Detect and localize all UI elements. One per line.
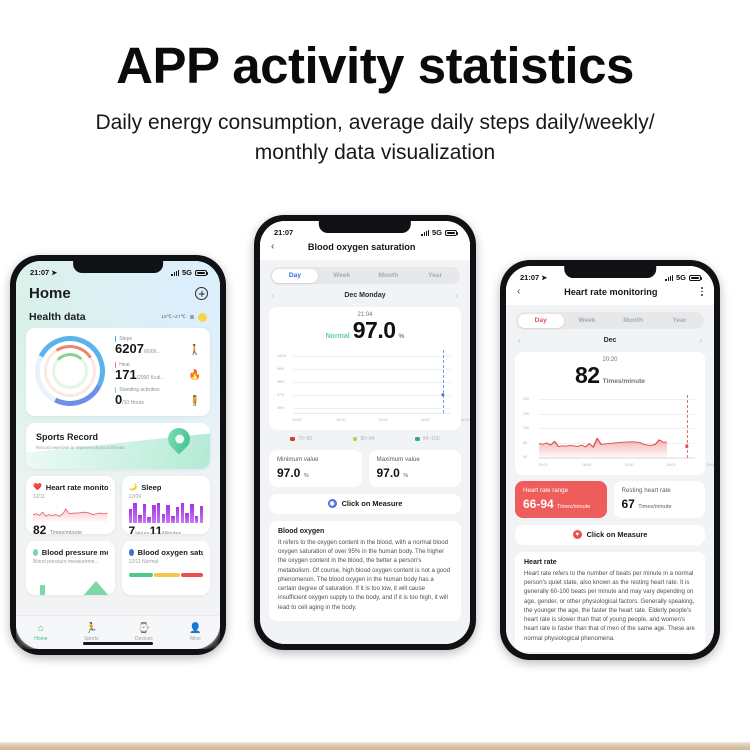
sleep-card-date: 12/09 — [129, 494, 204, 500]
oxygen-measure-icon: ◉ — [328, 499, 337, 508]
bp-icon — [33, 549, 38, 556]
phone-left-screen: 21:07 ➤ 5G Home Health data 18℃~27 — [16, 261, 220, 649]
phone-right-screen: 21:07 ➤ 5G ‹ Heart rate monitoring — [506, 266, 714, 654]
bp-card-subtitle: Blood pressure measureme... — [33, 559, 108, 565]
signal-bars-icon — [171, 270, 179, 276]
heart-rate-card-head: ❤️ Heart rate monitoring — [33, 483, 108, 492]
period-tabs-right: Day Week Month Year — [516, 312, 704, 329]
sleep-card-title: Sleep — [141, 483, 161, 492]
x-tick-4: 24:00 — [461, 418, 470, 422]
tab-year[interactable]: Year — [412, 269, 459, 283]
status-time: 21:07 — [30, 268, 49, 277]
flame-icon: 🔥 — [189, 371, 201, 381]
health-summary-card[interactable]: Steps 6207/6000... 🚶 — [26, 328, 210, 416]
bottom-cards-row: Blood pressure monitoring Blood pressure… — [26, 541, 210, 595]
resting-heart-rate-value: 67 Times/minute — [622, 497, 698, 511]
sun-icon — [198, 313, 207, 322]
heart-rate-card[interactable]: ❤️ Heart rate monitoring 12/11 — [26, 476, 115, 534]
bp-card-title: Blood pressure monitoring — [42, 548, 108, 557]
location-arrow-icon: ➤ — [541, 274, 547, 282]
x-tick-4: 24:00 — [707, 463, 715, 467]
location-arrow-icon: ➤ — [51, 269, 57, 277]
weather-widget: 18℃~27℃ — [161, 313, 207, 322]
page-subtitle: Daily energy consumption, average daily … — [0, 108, 750, 168]
nav-title: Blood oxygen saturation — [308, 242, 416, 252]
battery-icon — [195, 270, 207, 276]
phone-notch — [319, 221, 411, 233]
legend-item-90-94: 90~94 — [353, 436, 375, 442]
network-label: 5G — [676, 273, 686, 282]
standing-icon: 🧍 — [189, 397, 201, 407]
phone-blood-oxygen-screen: 21:07 5G ‹ Blood oxygen saturation — [254, 215, 476, 650]
oxygen-icon — [129, 549, 134, 556]
activity-rings — [35, 336, 105, 406]
home-header: Home — [26, 279, 210, 302]
resting-heart-rate-label: Resting heart rate — [622, 487, 698, 495]
tab-day[interactable]: Day — [518, 314, 564, 328]
period-tabs-center: Day Week Month Year — [270, 267, 460, 284]
x-tick-1: 06:00 — [337, 418, 346, 422]
heart-icon: ❤️ — [33, 483, 42, 491]
info-title: Blood oxygen — [278, 528, 452, 535]
add-device-button[interactable] — [195, 287, 208, 300]
back-button[interactable]: ‹ — [517, 286, 520, 297]
reading-status-badge: Normal — [326, 333, 350, 340]
chart-data-point — [441, 393, 444, 396]
tab-week[interactable]: Week — [564, 314, 610, 328]
tab-mine[interactable]: 👤 Mine — [189, 624, 201, 642]
heart-rate-chart: 200 160 120 80 40 — [523, 395, 697, 467]
x-tick-2: 12:00 — [379, 418, 388, 422]
reading-value: 97.0 — [353, 317, 396, 344]
heart-rate-card-date: 12/11 — [33, 494, 108, 500]
heart-rate-range-value: 66-94 Times/minute — [523, 497, 599, 511]
y-tick-100: 100% — [277, 354, 286, 358]
battery-icon — [445, 230, 457, 236]
measure-button-right[interactable]: ♥ Click on Measure — [515, 525, 705, 545]
back-button[interactable]: ‹ — [271, 241, 274, 252]
sleep-card-head: 🌙 Sleep — [129, 483, 204, 492]
status-time: 21:07 — [520, 273, 539, 282]
x-tick-1: 06:00 — [583, 463, 592, 467]
date-navigator-center: ‹ Dec Monday › — [260, 284, 470, 302]
metric-steps-value: 6207/6000... — [115, 342, 161, 356]
tab-home-label: Home — [34, 636, 47, 642]
phone-notch — [73, 261, 163, 273]
oxygen-card-subtitle: 12/11 Normal — [129, 559, 204, 565]
oxygen-chart: 100% 99% 98% 97% 96% 00:00 06:00 12:00 1… — [277, 350, 453, 422]
tab-devices-label: Devices — [135, 636, 153, 642]
heart-rate-card-title: Heart rate monitoring — [46, 483, 108, 492]
tab-sports-label: Sports — [84, 636, 98, 642]
oxygen-stats-row: Minimum value 97.0 % Maximum value 97.0 … — [269, 450, 461, 487]
tab-devices[interactable]: ⌚ Devices — [135, 624, 153, 642]
info-body: Heart rate refers to the number of beats… — [524, 569, 696, 643]
status-time: 21:07 — [274, 228, 293, 237]
tab-year[interactable]: Year — [656, 314, 702, 328]
measure-button-label: Click on Measure — [587, 530, 648, 539]
oxygen-card-title: Blood oxygen saturation — [138, 548, 203, 557]
tab-home[interactable]: ⌂ Home — [34, 624, 47, 642]
x-tick-3: 18:00 — [667, 463, 676, 467]
reading-value: 82 — [575, 362, 600, 389]
blood-oxygen-card[interactable]: Blood oxygen saturation 12/11 Normal — [122, 541, 211, 595]
profile-icon: 👤 — [189, 624, 201, 634]
y-tick-40: 40 — [523, 455, 527, 459]
metric-steps: Steps 6207/6000... 🚶 — [115, 336, 201, 356]
moon-icon: 🌙 — [129, 483, 138, 491]
battery-icon — [689, 275, 701, 281]
y-tick-99: 99% — [277, 367, 284, 371]
home-title-label: Home — [29, 285, 71, 302]
minimum-value-label: Minimum value — [277, 456, 354, 464]
legend-item-70-90: 70~90 — [290, 436, 312, 442]
heart-rate-range-label: Heart rate range — [523, 487, 599, 495]
poster-canvas: APP activity statistics Daily energy con… — [0, 0, 750, 750]
network-label: 5G — [182, 268, 192, 277]
metric-standing: Standing activities 0/10 Hours 🧍 — [115, 387, 201, 407]
x-tick-0: 00:00 — [539, 463, 548, 467]
heart-rate-line — [539, 398, 695, 458]
signal-bars-icon — [421, 230, 429, 236]
bp-chart — [34, 575, 107, 595]
metric-heat: Heat 171/2000 Kcal... 🔥 — [115, 362, 201, 382]
health-metrics: Steps 6207/6000... 🚶 — [111, 336, 201, 407]
sports-icon: 🏃 — [85, 624, 97, 634]
bp-card-head: Blood pressure monitoring — [33, 548, 108, 557]
tab-month[interactable]: Month — [610, 314, 656, 328]
kebab-menu-icon[interactable] — [701, 287, 703, 295]
heart-rate-stats-row: Heart rate range 66-94 Times/minute Rest… — [515, 481, 705, 518]
mini-cards-row: ❤️ Heart rate monitoring 12/11 — [26, 476, 210, 534]
nav-bar-center: ‹ Blood oxygen saturation — [260, 239, 470, 260]
phone-center-screen: 21:07 5G ‹ Blood oxygen saturation — [260, 221, 470, 644]
heart-rate-info-card: Heart rate Heart rate refers to the numb… — [515, 552, 705, 652]
tab-sports[interactable]: 🏃 Sports — [84, 624, 98, 642]
heart-rate-card-value: 82 Times/minute — [33, 523, 108, 534]
prev-date-button[interactable]: ‹ — [518, 336, 521, 345]
chart-cursor — [443, 350, 444, 413]
weather-temp: 18℃~27℃ — [161, 314, 186, 320]
oxygen-card-head: Blood oxygen saturation — [129, 548, 204, 557]
tab-day[interactable]: Day — [272, 269, 319, 283]
home-icon: ⌂ — [38, 624, 44, 634]
y-tick-160: 160 — [523, 412, 529, 416]
maximum-value-label: Maximum value — [377, 456, 454, 464]
sleep-card-value: 7Hours11Minutes — [129, 524, 204, 534]
oxygen-legend: 70~90 90~94 94~100 — [260, 430, 470, 444]
legend-item-94-100: 94~100 — [415, 436, 439, 442]
maximum-value-card: Maximum value 97.0 % — [369, 450, 462, 487]
reading-unit: % — [399, 333, 405, 340]
x-tick-2: 12:00 — [625, 463, 634, 467]
nav-title: Heart rate monitoring — [564, 287, 657, 297]
phone-heart-rate-screen: 21:07 ➤ 5G ‹ Heart rate monitoring — [500, 260, 720, 660]
page-subtitle-line1: Daily energy consumption, average daily … — [0, 108, 750, 138]
info-title: Heart rate — [524, 559, 696, 566]
tab-month[interactable]: Month — [365, 269, 412, 283]
weather-badge-icon — [190, 315, 194, 319]
x-tick-3: 18:00 — [421, 418, 430, 422]
info-body: It refers to the oxygen content in the b… — [278, 538, 452, 612]
next-date-button[interactable]: › — [455, 291, 458, 300]
phone-home-screen: 21:07 ➤ 5G Home Health data 18℃~27 — [10, 255, 226, 655]
phone-notch — [564, 266, 656, 278]
measure-button-center[interactable]: ◉ Click on Measure — [269, 494, 461, 514]
resting-heart-rate-card: Resting heart rate 67 Times/minute — [614, 481, 706, 518]
measure-button-label: Click on Measure — [342, 499, 403, 508]
prev-date-button[interactable]: ‹ — [272, 291, 275, 300]
blood-pressure-card[interactable]: Blood pressure monitoring Blood pressure… — [26, 541, 115, 595]
health-data-header: Health data 18℃~27℃ — [26, 302, 210, 328]
y-tick-80: 80 — [523, 441, 527, 445]
page-subtitle-line2: monthly data visualization — [0, 138, 750, 168]
nav-bar-right: ‹ Heart rate monitoring — [506, 284, 714, 305]
heart-rate-readout-card: 20:20 82 Times/minute 200 160 120 — [515, 352, 705, 475]
y-tick-98: 98% — [277, 380, 284, 384]
metric-standing-value: 0/10 Hours — [115, 393, 160, 407]
sleep-card[interactable]: 🌙 Sleep 12/09 7Hours11Minutes — [122, 476, 211, 534]
sleep-bars-chart — [129, 503, 204, 523]
tab-mine-label: Mine — [190, 636, 201, 642]
home-content: Home Health data 18℃~27℃ — [16, 279, 220, 595]
heart-rate-detail: 21:07 ➤ 5G ‹ Heart rate monitoring — [506, 266, 714, 654]
reading-value-row: 82 Times/minute — [523, 362, 697, 389]
y-tick-120: 120 — [523, 426, 529, 430]
oxygen-readout-card: 21:04 Normal 97.0 % 100% 99% — [269, 307, 461, 430]
minimum-value: 97.0 % — [277, 466, 354, 480]
date-label: Dec Monday — [344, 292, 385, 299]
heart-rate-range-card: Heart rate range 66-94 Times/minute — [515, 481, 607, 518]
reading-unit: Times/minute — [603, 378, 645, 385]
heart-rate-sparkline — [33, 504, 108, 522]
next-date-button[interactable]: › — [699, 336, 702, 345]
devices-icon: ⌚ — [138, 624, 150, 634]
y-tick-200: 200 — [523, 397, 529, 401]
reading-value-row: Normal 97.0 % — [277, 317, 453, 344]
date-label: Dec — [604, 337, 617, 344]
health-data-label: Health data — [29, 311, 86, 323]
maximum-value: 97.0 % — [377, 466, 454, 480]
x-tick-0: 00:00 — [293, 418, 302, 422]
page-title: APP activity statistics — [0, 36, 750, 95]
y-tick-97: 97% — [277, 393, 284, 397]
oxygen-range-bar — [129, 573, 204, 578]
floor-strip — [0, 742, 750, 750]
home-indicator — [83, 642, 153, 645]
network-label: 5G — [432, 228, 442, 237]
sports-record-card[interactable]: Sports Record Record exercise to improve… — [26, 423, 210, 469]
chart-cursor — [687, 395, 688, 458]
metric-heat-value: 171/2000 Kcal... — [115, 368, 165, 382]
minimum-value-card: Minimum value 97.0 % — [269, 450, 362, 487]
blood-oxygen-detail: 21:07 5G ‹ Blood oxygen saturation — [260, 221, 470, 644]
walking-icon: 🚶 — [189, 346, 201, 356]
signal-bars-icon — [665, 275, 673, 281]
date-navigator-right: ‹ Dec › — [506, 329, 714, 347]
blood-oxygen-info-card: Blood oxygen It refers to the oxygen con… — [269, 521, 461, 621]
heart-measure-icon: ♥ — [573, 530, 582, 539]
y-tick-96: 96% — [277, 406, 284, 410]
tab-week[interactable]: Week — [318, 269, 365, 283]
